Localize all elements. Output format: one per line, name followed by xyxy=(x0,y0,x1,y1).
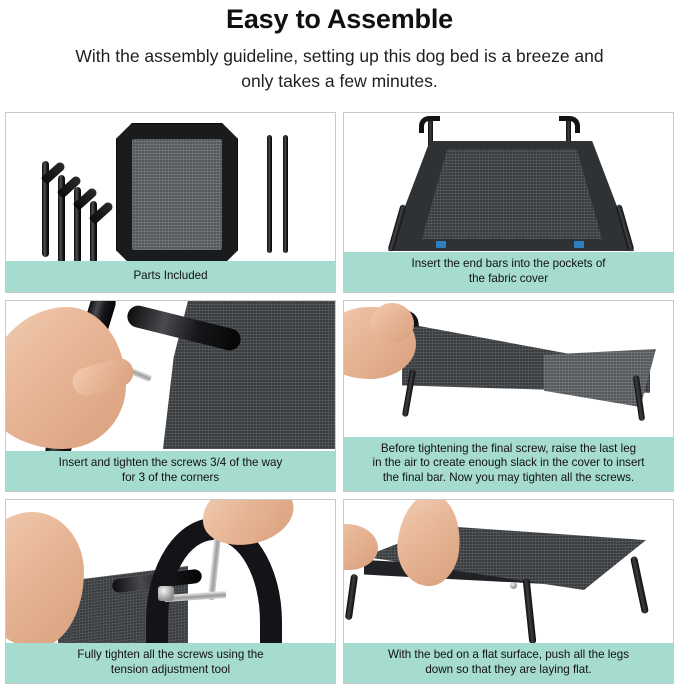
panel-parts-included: Parts Included xyxy=(5,112,336,293)
leg-part-4 xyxy=(90,201,97,261)
caption-line: tension adjustment tool xyxy=(12,663,329,678)
bed-leg-front-left xyxy=(523,578,537,643)
caption-line: Insert the end bars into the pockets of xyxy=(350,257,667,272)
caption-line: in the air to create enough slack in the… xyxy=(350,456,667,471)
panel-push-legs-flat: With the bed on a flat surface, push all… xyxy=(343,499,674,684)
straight-bar-1 xyxy=(267,135,272,253)
leg-part-1 xyxy=(42,161,49,257)
panel-caption: Insert the end bars into the pockets of … xyxy=(344,252,673,292)
raise-last-leg-photo xyxy=(344,301,673,437)
panel-insert-end-bars: Insert the end bars into the pockets of … xyxy=(343,112,674,293)
hand-right-illustration xyxy=(370,303,414,343)
panel-insert-tighten-screws: Insert and tighten the screws 3/4 of the… xyxy=(5,300,336,492)
blue-label-tab-right xyxy=(574,241,584,248)
tighten-screws-photo xyxy=(6,500,335,643)
leg-part-3 xyxy=(74,187,81,261)
caption-line: for 3 of the corners xyxy=(12,471,329,486)
insert-screws-photo xyxy=(6,301,335,451)
bed-leg-front-right xyxy=(630,556,649,614)
fabric-cover-part xyxy=(116,123,238,261)
caption-line: the fabric cover xyxy=(350,272,667,287)
panel-fully-tighten-screws: Fully tighten all the screws using the t… xyxy=(5,499,336,684)
panel-caption: Before tightening the final screw, raise… xyxy=(344,437,673,492)
cover-mesh-surface xyxy=(422,149,602,239)
leg-bend-4 xyxy=(89,201,114,225)
tilted-bed-illustration xyxy=(344,301,673,437)
blue-label-tab-left xyxy=(436,241,446,248)
panel-caption: Parts Included xyxy=(6,261,335,293)
bed-leg-back-left xyxy=(345,574,358,621)
caption-line: Insert and tighten the screws 3/4 of the… xyxy=(12,456,329,471)
legs-group-illustration xyxy=(42,135,126,257)
screw-head xyxy=(158,586,174,601)
caption-line: down so that they are laying flat. xyxy=(350,663,667,678)
panel-raise-last-leg: Before tightening the final screw, raise… xyxy=(343,300,674,492)
caption-line: With the bed on a flat surface, push all… xyxy=(350,648,667,663)
panel-caption: With the bed on a flat surface, push all… xyxy=(344,643,673,683)
assembly-steps-grid: Parts Included Insert the end bars into … xyxy=(5,112,674,684)
page-subtitle: With the assembly guideline, setting up … xyxy=(60,44,620,94)
parts-included-photo xyxy=(6,113,335,261)
page-title: Easy to Assemble xyxy=(0,2,679,36)
fabric-cover-mesh xyxy=(132,139,222,250)
bed-assembly-illustration xyxy=(344,113,673,252)
panel-caption: Insert and tighten the screws 3/4 of the… xyxy=(6,451,335,491)
caption-line: Parts Included xyxy=(133,269,207,282)
header: Easy to Assemble With the assembly guide… xyxy=(0,0,679,94)
caption-line: Before tightening the final screw, raise… xyxy=(350,442,667,457)
insert-end-bars-photo xyxy=(344,113,673,252)
straight-bar-2 xyxy=(283,135,288,253)
caption-line: Fully tighten all the screws using the xyxy=(12,648,329,663)
caption-line: the final bar. Now you may tighten all t… xyxy=(350,471,667,486)
corner-screw xyxy=(510,582,517,589)
assembly-instructions-page: Easy to Assemble With the assembly guide… xyxy=(0,0,679,674)
panel-caption: Fully tighten all the screws using the t… xyxy=(6,643,335,683)
bars-group-illustration xyxy=(263,135,303,255)
leg-part-2 xyxy=(58,175,65,261)
push-legs-flat-photo xyxy=(344,500,673,643)
